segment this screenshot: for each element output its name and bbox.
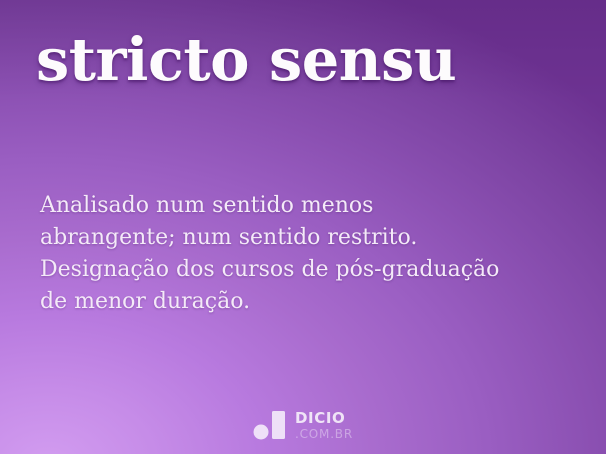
definition-line: Designação dos cursos de pós-graduação [40, 254, 570, 286]
definition-line: abrangente; num sentido restrito. [40, 222, 570, 254]
title-container: stricto sensu [36, 30, 576, 89]
page-title: stricto sensu [36, 30, 576, 89]
dicio-logo[interactable]: DICIO .COM.BR [0, 407, 606, 443]
brand-name: DICIO [295, 411, 353, 426]
definition-line: Analisado num sentido menos [40, 190, 570, 222]
rounded-bar-icon [272, 411, 285, 439]
dicio-logo-mark [253, 410, 286, 440]
definition-line: de menor duração. [40, 286, 570, 318]
circle-icon [254, 425, 269, 440]
definition-card: stricto sensu Analisado num sentido meno… [0, 0, 606, 454]
brand-tld: .COM.BR [295, 428, 353, 440]
dicio-logo-text: DICIO .COM.BR [295, 411, 353, 440]
definition-text: Analisado num sentido menos abrangente; … [40, 190, 570, 318]
